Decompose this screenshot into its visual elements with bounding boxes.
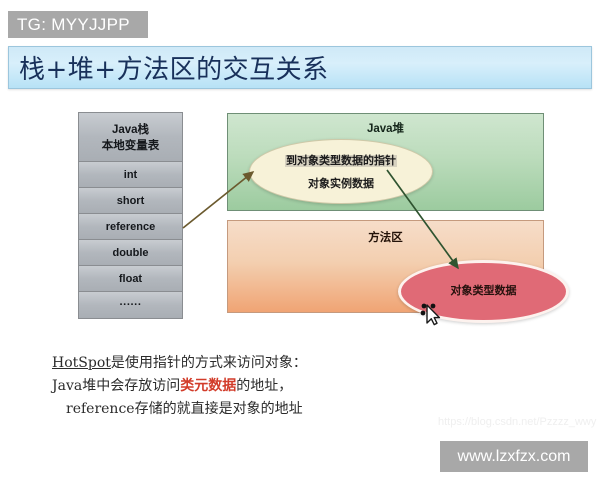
stack-row-ellipsis: ······ (79, 292, 182, 318)
stack-header-line2: 本地变量表 (79, 138, 182, 154)
pointer-to-class-data-label: 到对象类型数据的指针 (250, 152, 432, 168)
java-stack-table: Java栈 本地变量表 int short reference double f… (78, 112, 183, 319)
stack-row-double: double (79, 240, 182, 266)
class-type-data-label: 对象类型数据 (401, 282, 566, 298)
page-title: 栈+堆+方法区的交互关系 (19, 48, 329, 85)
reference-keyword: reference (66, 401, 135, 417)
body-line-1-rest: 是使用指针的方式来访问对象： (111, 355, 307, 371)
telegram-watermark-badge: TG: MYYJJPP (8, 11, 148, 38)
stack-row-short: short (79, 188, 182, 214)
stack-row-int: int (79, 162, 182, 188)
stack-row-float: float (79, 266, 182, 292)
body-line-1: HotSpot是使用指针的方式来访问对象： (52, 352, 472, 375)
csdn-url-watermark: https://blog.csdn.net/Pzzzz_wwy (438, 416, 596, 428)
object-instance-data-label: 对象实例数据 (250, 175, 432, 191)
stack-header-line1: Java栈 (79, 122, 182, 138)
site-url-badge: www.lzxfzx.com (440, 441, 588, 472)
body-line-3-rest: 存储的就直接是对象的地址 (135, 401, 303, 417)
stack-row-reference: reference (79, 214, 182, 240)
method-area-label: 方法区 (228, 229, 543, 245)
class-metadata-highlight: 类元数据 (180, 378, 236, 394)
object-instance-ellipse: 到对象类型数据的指针 对象实例数据 (249, 139, 433, 204)
body-line-2-prefix: Java堆中会存放访问 (52, 378, 180, 394)
body-paragraph: HotSpot是使用指针的方式来访问对象： Java堆中会存放访问类元数据的地址… (52, 352, 472, 421)
java-heap-region: Java堆 到对象类型数据的指针 对象实例数据 (227, 113, 544, 211)
java-heap-label: Java堆 (228, 120, 543, 136)
stack-table-header: Java栈 本地变量表 (79, 113, 182, 162)
hotspot-keyword: HotSpot (52, 355, 111, 371)
body-line-3: reference存储的就直接是对象的地址 (52, 398, 303, 421)
body-line-2-suffix: 的地址， (236, 378, 292, 394)
slide-title-bar: 栈+堆+方法区的交互关系 (8, 46, 592, 89)
mouse-cursor-icon (414, 298, 444, 330)
body-line-2: Java堆中会存放访问类元数据的地址， (52, 375, 472, 398)
method-area-region: 方法区 对象类型数据 (227, 220, 544, 313)
